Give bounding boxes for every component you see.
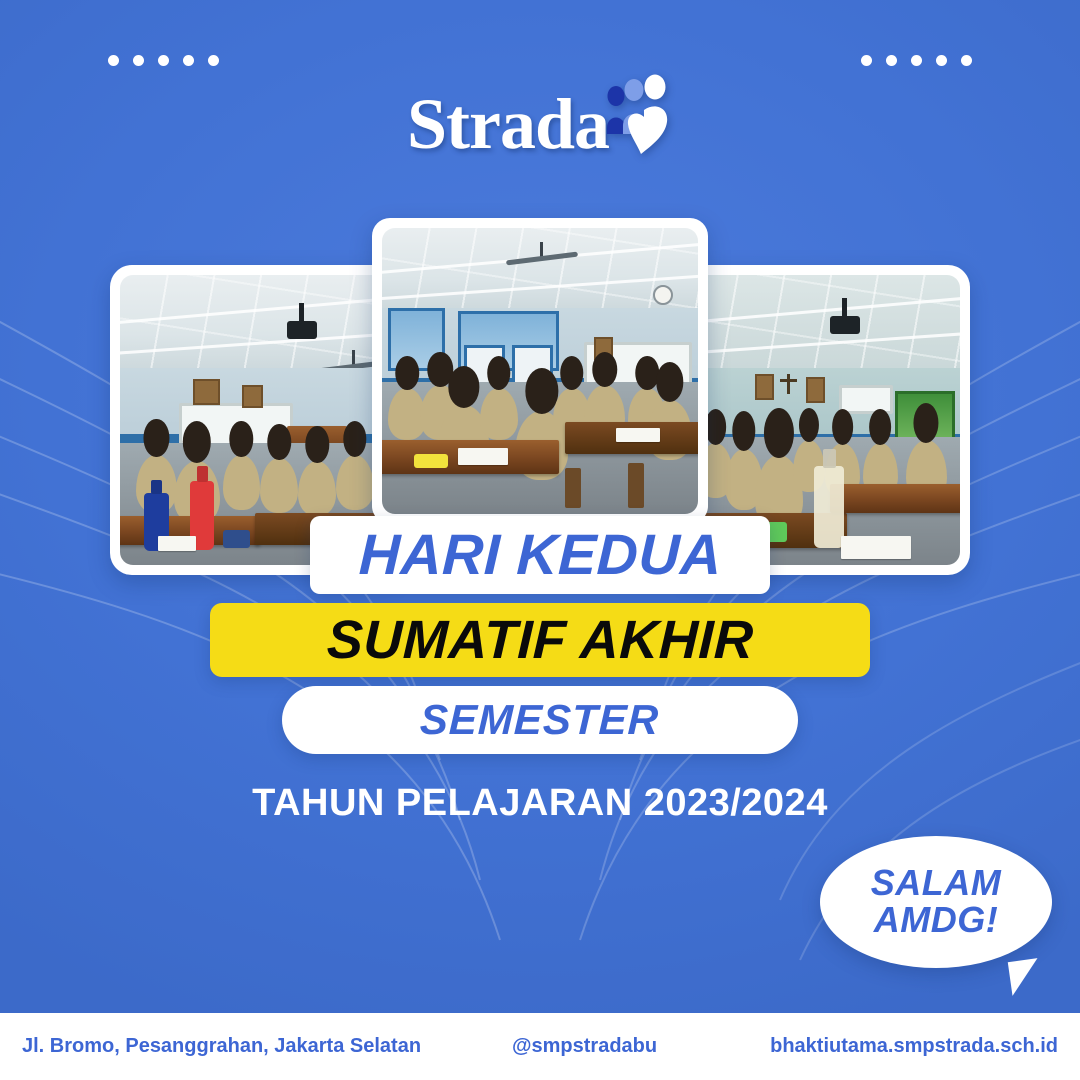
- headline-subtitle: TAHUN PELAJARAN 2023/2024: [0, 782, 1080, 825]
- footer-bar: Jl. Bromo, Pesanggrahan, Jakarta Selatan…: [0, 1013, 1080, 1080]
- footer-website[interactable]: bhaktiutama.smpstrada.sch.id: [770, 1035, 1058, 1058]
- headline-bar-secondary: SEMESTER: [282, 686, 798, 754]
- speech-bubble-line-1: SALAM: [871, 865, 1002, 902]
- headline-line-2: SUMATIF AKHIR: [326, 609, 755, 671]
- speech-bubble-line-2: AMDG!: [874, 902, 998, 939]
- footer-instagram-handle[interactable]: @smpstradabu: [512, 1035, 657, 1058]
- poster-canvas: Strada: [0, 0, 1080, 1080]
- speech-bubble: SALAM AMDG!: [820, 836, 1052, 968]
- headline-line-1: HARI KEDUA: [357, 522, 722, 588]
- headline-stack: HARI KEDUA SUMATIF AKHIR SEMESTER TAHUN …: [0, 516, 1080, 825]
- photo-center: [372, 218, 708, 524]
- headline-line-3: SEMESTER: [420, 696, 661, 744]
- footer-address: Jl. Bromo, Pesanggrahan, Jakarta Selatan: [22, 1035, 421, 1058]
- headline-bar-yellow: SUMATIF AKHIR: [210, 603, 870, 677]
- headline-bar-primary: HARI KEDUA: [310, 516, 770, 594]
- speech-bubble-tail: [1008, 958, 1042, 996]
